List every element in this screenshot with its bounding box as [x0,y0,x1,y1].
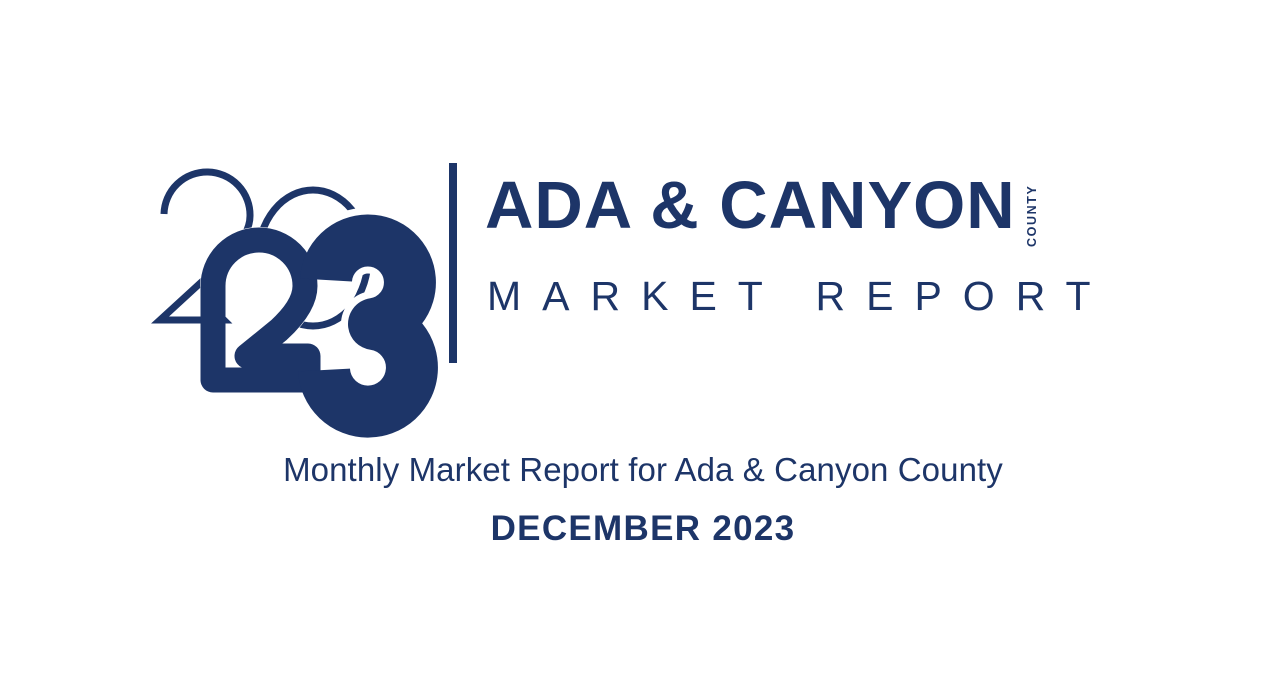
report-date: DECEMBER 2023 [0,507,1286,551]
logo-divider-rule [449,163,457,363]
wordmark-secondary-text: MARKET REPORT [487,273,1112,319]
year-mark-2023 [150,158,440,390]
report-cover-page: ADA & CANYON COUNTY MARKET REPORT Monthl… [0,0,1286,676]
brand-logo-lockup: ADA & CANYON COUNTY MARKET REPORT [0,140,1286,380]
brand-wordmark: ADA & CANYON COUNTY MARKET REPORT [485,170,1155,360]
report-description: Monthly Market Report for Ada & Canyon C… [0,448,1286,492]
wordmark-county-tag: COUNTY [1025,175,1039,247]
cover-subtitle-block: Monthly Market Report for Ada & Canyon C… [0,448,1286,551]
wordmark-primary-row: ADA & CANYON COUNTY [485,170,1039,247]
wordmark-primary-text: ADA & CANYON [485,170,1016,242]
